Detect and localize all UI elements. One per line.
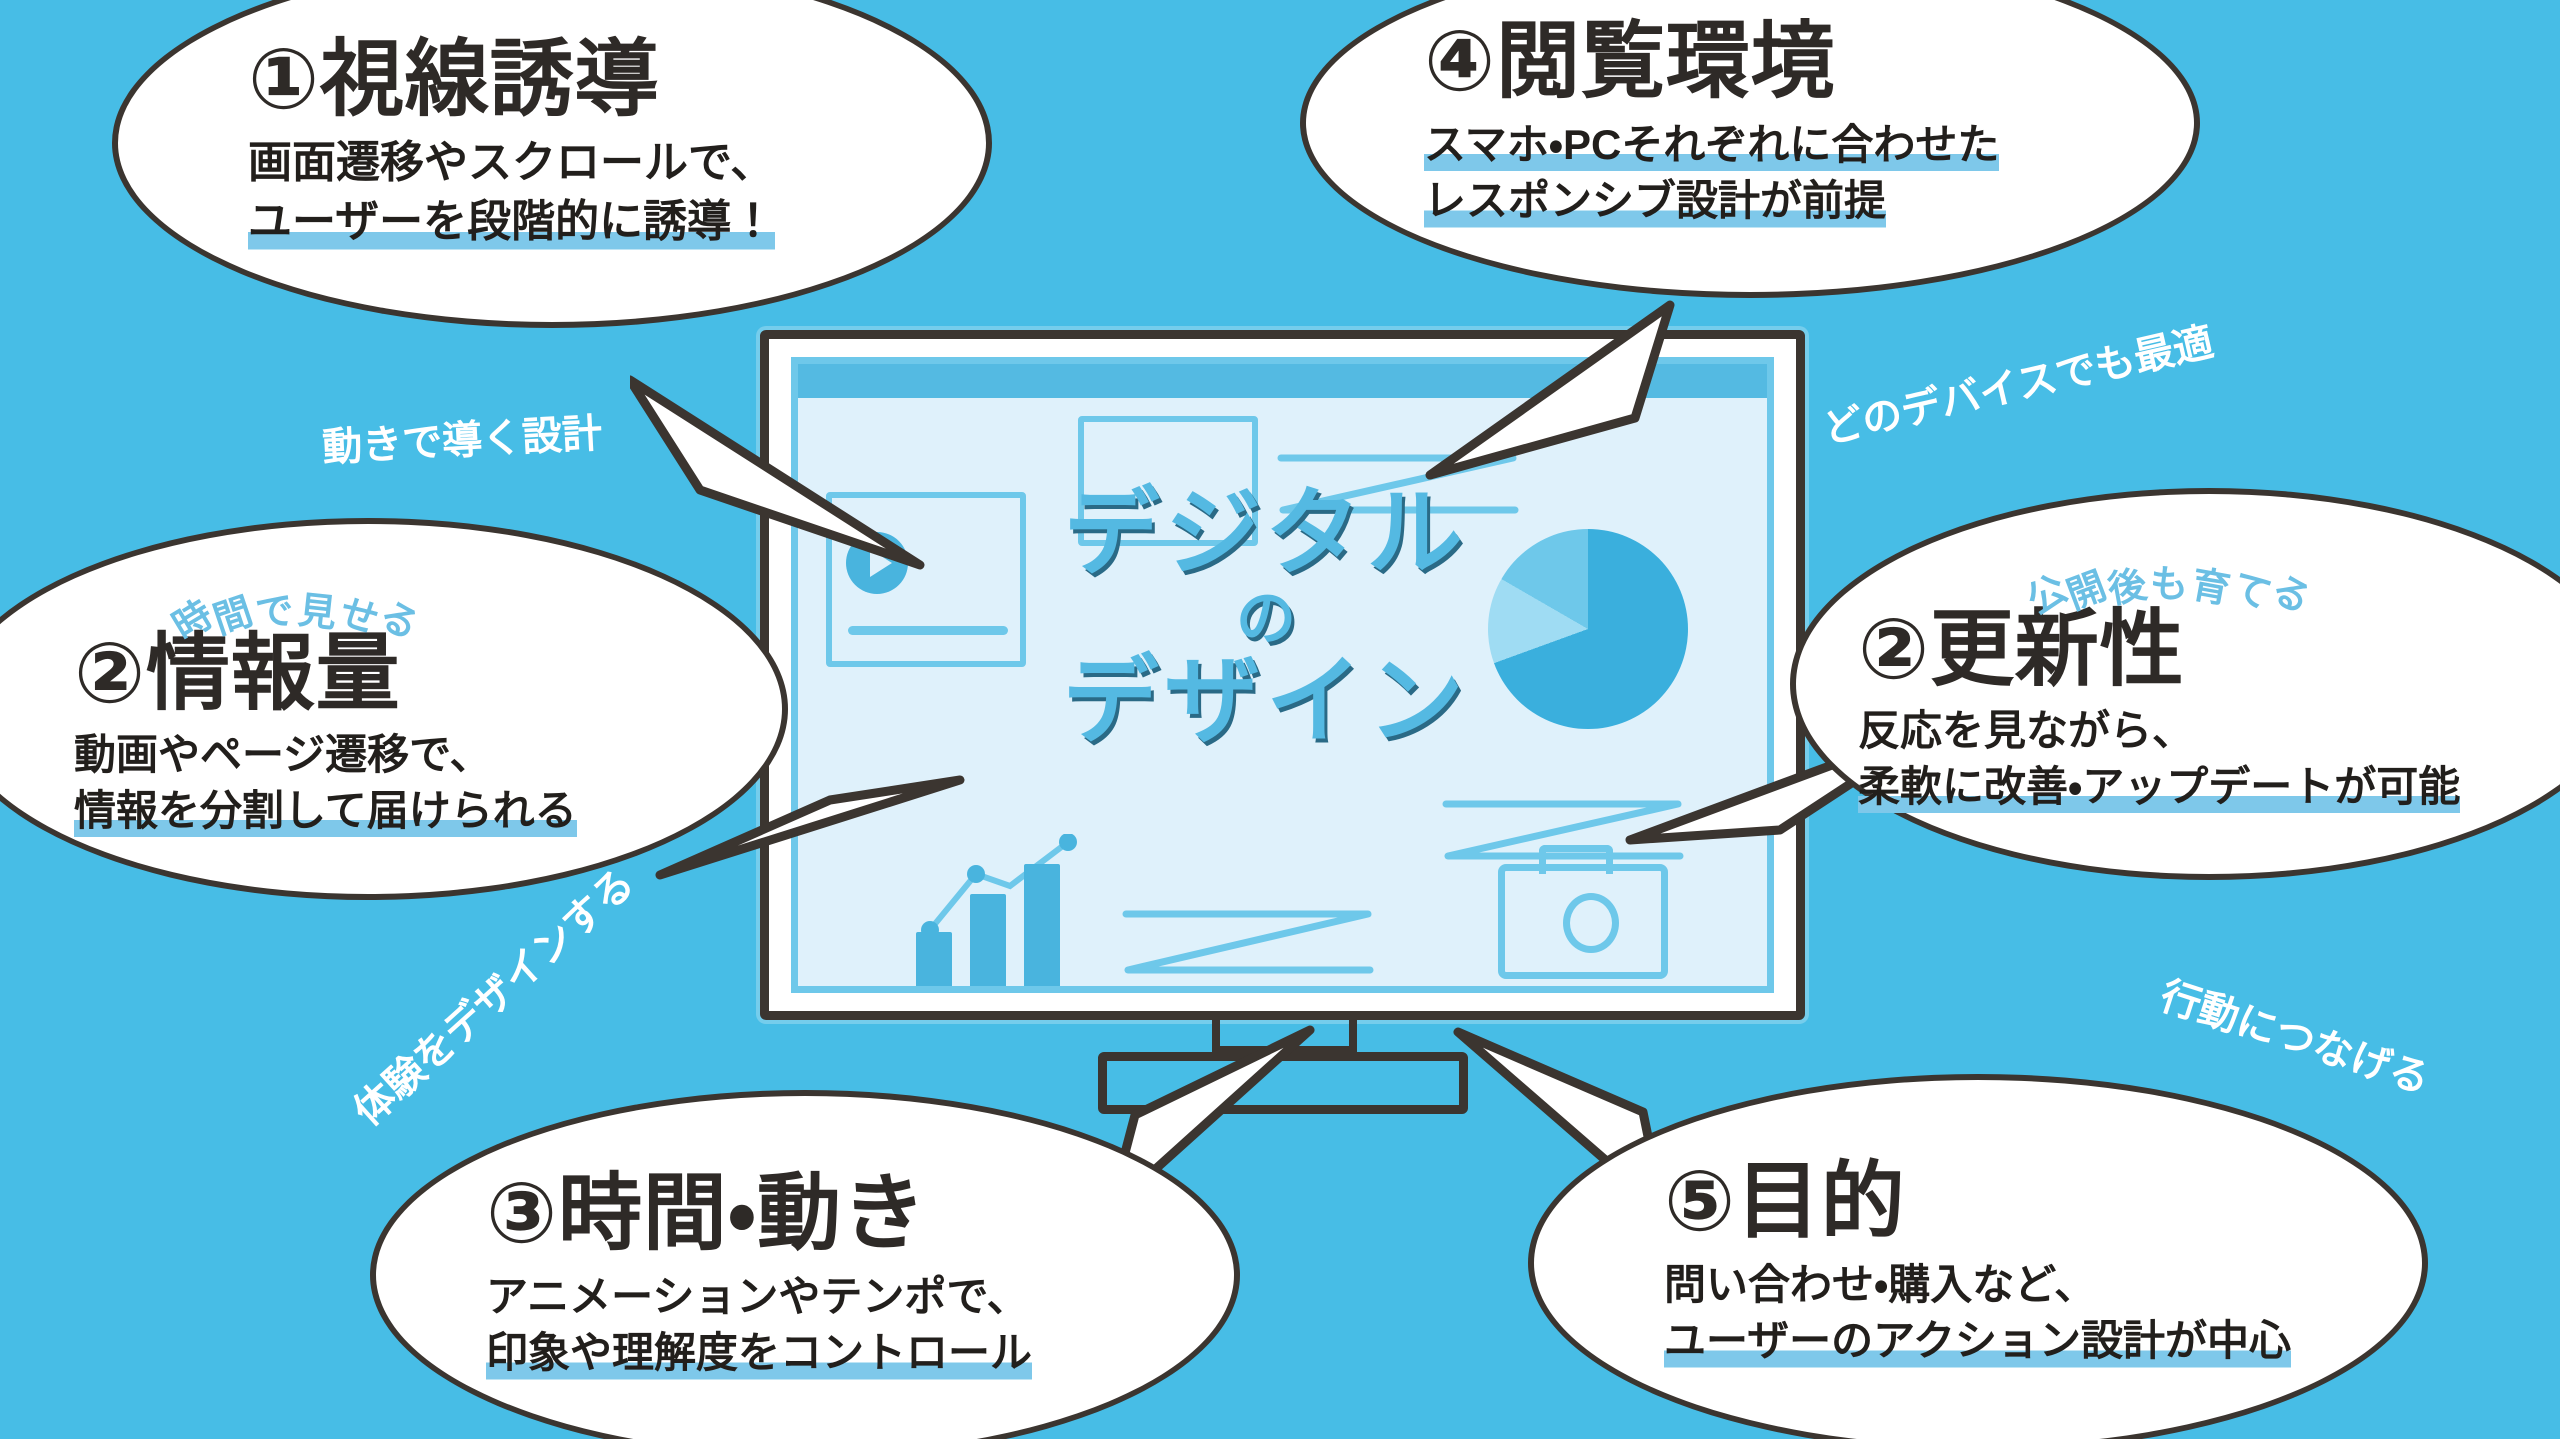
label-kodo-ni-tsunageru: 行動につなげる bbox=[2154, 963, 2438, 1105]
bubble-1-line-1: 画面遷移やスクロールで、 bbox=[248, 134, 916, 193]
poster-canvas: デジタル の デザイン 動きで導く設計 どのデバイスでも最適 体験をデザインする… bbox=[0, 0, 2560, 1439]
bubble-3[interactable]: ③時間・動き アニメーションやテンポで、 印象や理解度をコントロール bbox=[370, 1090, 1240, 1439]
label-ugoki-de-michibiku-sekkei: 動きで導く設計 bbox=[321, 401, 604, 474]
bubble-3-line-2: 印象や理解度をコントロール bbox=[486, 1325, 1032, 1381]
bubble-3-title-text: 時間・動き bbox=[558, 1166, 927, 1260]
bubble-2-koshin-line-1: 反応を見ながら、 bbox=[1858, 703, 2552, 759]
bubble-5-number: ⑤ bbox=[1664, 1154, 1736, 1248]
bubble-2-joho-mini-label-text: 時間で見せる bbox=[182, 579, 410, 634]
bubble-4-line-2: レスポンシブ設計が前提 bbox=[1424, 173, 1886, 229]
camera-icon bbox=[1498, 864, 1668, 979]
bubble-3-number: ③ bbox=[486, 1166, 558, 1260]
bar-1 bbox=[916, 932, 952, 993]
bubble-4[interactable]: ④閲覧環境 スマホ・PCそれぞれに合わせた レスポンシブ設計が前提 bbox=[1300, 0, 2200, 298]
bubble-3-line-1: アニメーションやテンポで、 bbox=[486, 1269, 1164, 1325]
bubble-2-koshin-mini-label: 公開後も育てる bbox=[2036, 553, 2552, 608]
bubble-4-title: ④閲覧環境 bbox=[1424, 16, 2124, 107]
bubble-4-tail bbox=[1420, 300, 1680, 500]
bubble-4-line-1: スマホ・PCそれぞれに合わせた bbox=[1424, 117, 1999, 173]
zigzag-lines-bottom bbox=[1118, 904, 1378, 993]
bubble-1-number: ① bbox=[248, 32, 320, 126]
bubble-5-line-2: ユーザーのアクション設計が中心 bbox=[1664, 1313, 2291, 1369]
bubble-1-line-2: ユーザーを段階的に誘導！ bbox=[248, 193, 775, 252]
bubble-3-title: ③時間・動き bbox=[486, 1168, 1164, 1259]
center-title-line-2: の bbox=[1046, 587, 1486, 650]
bubble-2-koshin-title: ②更新性 bbox=[1858, 604, 2552, 695]
bubble-4-number: ④ bbox=[1424, 14, 1496, 108]
bubble-1-title-text: 視線誘導 bbox=[320, 32, 659, 126]
center-title: デジタル の デザイン bbox=[1046, 484, 1486, 753]
video-card-caption-line bbox=[848, 626, 1008, 635]
camera-lens-icon bbox=[1563, 893, 1619, 953]
bubble-2-koshin-number: ② bbox=[1858, 602, 1930, 696]
bubble-2-joho-number: ② bbox=[74, 626, 146, 720]
bubble-2-joho-mini-label: 時間で見せる bbox=[182, 579, 712, 634]
bubble-1-title: ①視線誘導 bbox=[248, 34, 916, 125]
bubble-5[interactable]: ⑤目的 問い合わせ・購入など、 ユーザーのアクション設計が中心 bbox=[1528, 1074, 2428, 1439]
bubble-1[interactable]: ①視線誘導 画面遷移やスクロールで、 ユーザーを段階的に誘導！ bbox=[112, 0, 992, 328]
bubble-4-title-text: 閲覧環境 bbox=[1496, 14, 1835, 108]
bubble-2-koshin-mini-label-text: 公開後も育てる bbox=[2036, 553, 2302, 608]
bubble-5-title-text: 目的 bbox=[1736, 1154, 1906, 1248]
bubble-1-tail bbox=[630, 370, 930, 600]
bubble-2-joho-line-2: 情報を分割して届けられる bbox=[74, 783, 577, 839]
center-title-line-3: デザイン bbox=[1046, 652, 1486, 753]
bubble-2-joho-line-1: 動画やページ遷移で、 bbox=[74, 727, 712, 783]
bubble-5-title: ⑤目的 bbox=[1664, 1156, 2352, 1247]
bar-3 bbox=[1024, 864, 1060, 993]
bubble-2-koshin-line-2: 柔軟に改善・アップデートが可能 bbox=[1858, 759, 2460, 815]
bubble-5-line-1: 問い合わせ・購入など、 bbox=[1664, 1257, 2352, 1313]
bar-2 bbox=[970, 894, 1006, 993]
label-dono-device-demo-saiteki: どのデバイスでも最適 bbox=[1816, 309, 2218, 455]
